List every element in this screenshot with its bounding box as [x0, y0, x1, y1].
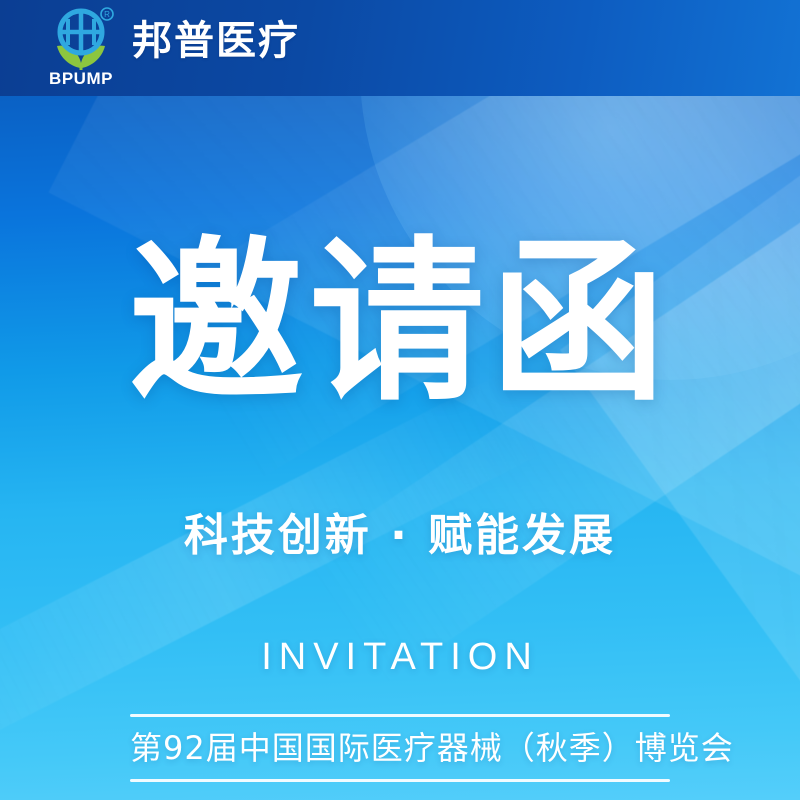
company-logo: R BPUMP — [44, 6, 118, 90]
event-name: 第92届中国国际医疗器械（秋季）博览会 — [130, 717, 670, 779]
svg-text:R: R — [104, 10, 110, 19]
brand-name-cn: 邦普医疗 — [132, 21, 300, 75]
brand-lockup: R BPUMP 邦普医疗 — [44, 6, 300, 90]
logo-wordmark: BPUMP — [44, 69, 118, 89]
invitation-poster: R BPUMP 邦普医疗 邀请函 科技创新 · 赋能发展 INVITATION … — [0, 0, 800, 800]
page-title: 邀请函 — [0, 236, 800, 411]
divider-bottom — [130, 779, 670, 782]
header-band: R BPUMP 邦普医疗 — [0, 0, 800, 96]
footer-block: 第92届中国国际医疗器械（秋季）博览会 — [130, 714, 670, 782]
poster-content: 邀请函 科技创新 · 赋能发展 INVITATION 第92届中国国际医疗器械（… — [0, 96, 800, 800]
poster-subtitle: 科技创新 · 赋能发展 — [0, 499, 800, 563]
invitation-english-label: INVITATION — [0, 636, 800, 679]
